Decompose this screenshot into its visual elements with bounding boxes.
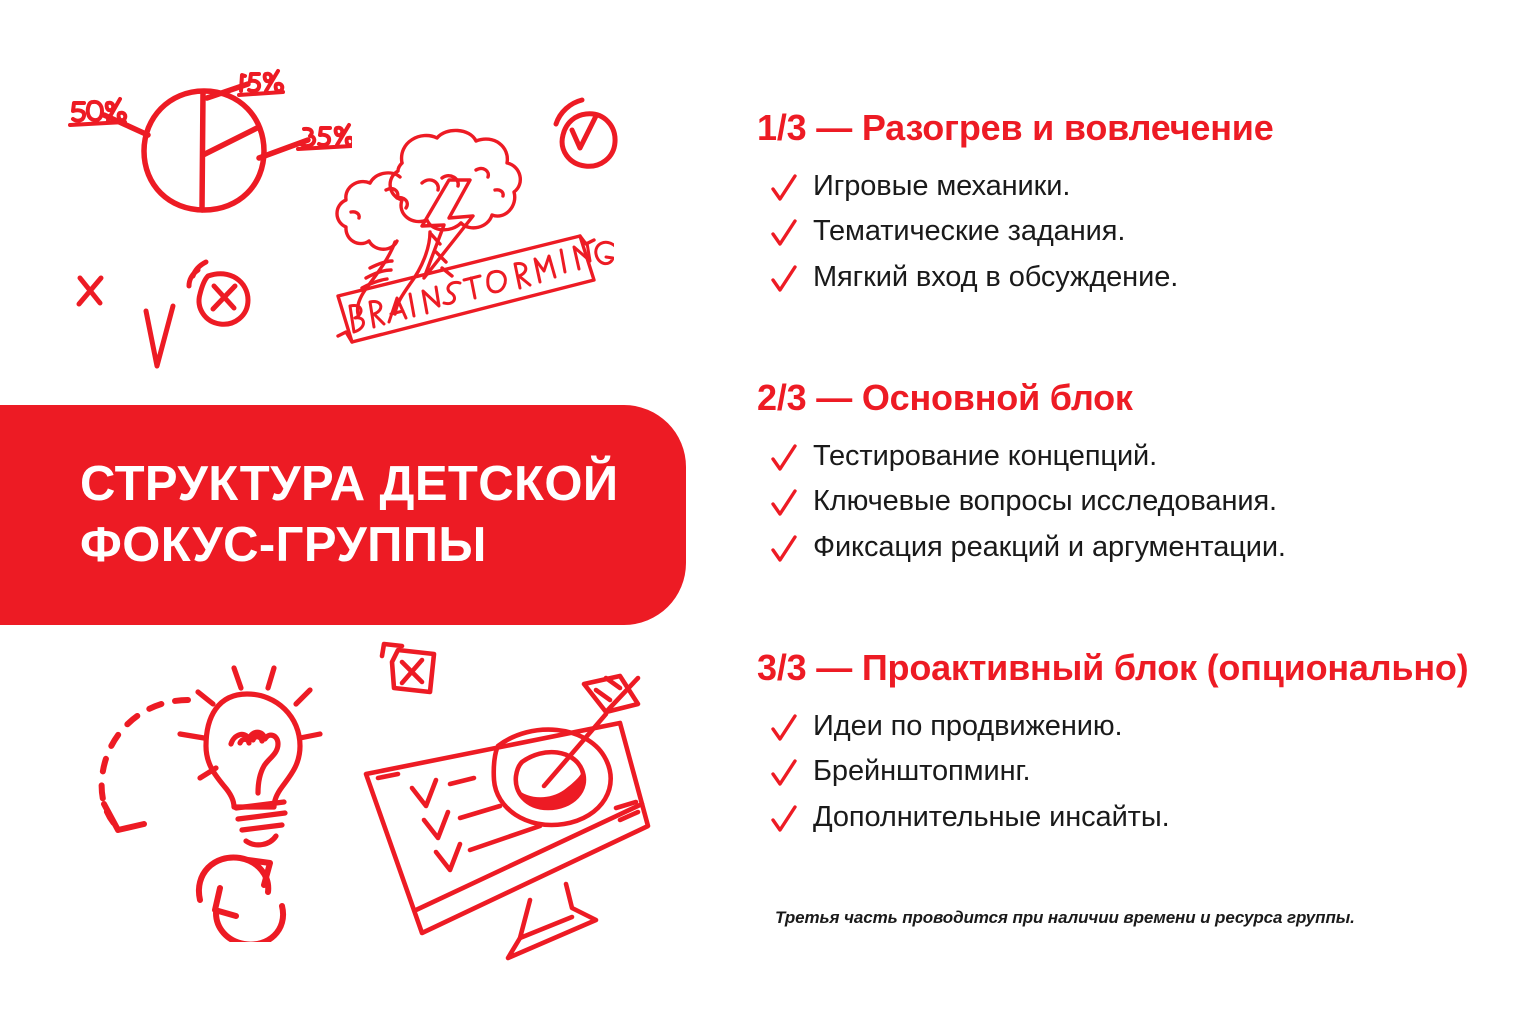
list-item-label: Идеи по продвижению. [813, 709, 1122, 744]
check-icon [771, 804, 797, 834]
right-content-column: 1/3 — Разогрев и вовлечение Игровые меха… [757, 0, 1497, 1028]
list-item-label: Тематические задания. [813, 214, 1125, 249]
section-heading: 3/3 — Проактивный блок (опционально) [757, 645, 1477, 691]
check-icon [771, 534, 797, 564]
list-item: Игровые механики. [757, 169, 1477, 204]
list-item: Брейнштопминг. [757, 754, 1477, 789]
section-proactive-block: 3/3 — Проактивный блок (опционально) Иде… [757, 645, 1477, 845]
check-icon [771, 713, 797, 743]
list-item: Мягкий вход в обсуждение. [757, 260, 1477, 295]
list-item: Ключевые вопросы исследования. [757, 484, 1477, 519]
list-item: Тематические задания. [757, 214, 1477, 249]
check-icon [771, 173, 797, 203]
check-icon [771, 264, 797, 294]
check-icon [771, 758, 797, 788]
section-main-block: 2/3 — Основной блок Тестирование концепц… [757, 375, 1477, 575]
check-icon [771, 218, 797, 248]
poster-canvas: СТРУКТУРА ДЕТСКОЙ ФОКУС-ГРУППЫ 1/3 — Раз… [0, 0, 1536, 1028]
lightbulb-icon [88, 638, 352, 942]
check-icon [771, 443, 797, 473]
list-item-label: Брейнштопминг. [813, 754, 1030, 789]
scribble-marks-icon [58, 248, 322, 372]
check-icon [771, 488, 797, 518]
section-warmup: 1/3 — Разогрев и вовлечение Игровые меха… [757, 105, 1477, 305]
page-title-line-2: ФОКУС-ГРУППЫ [80, 515, 646, 576]
list-item-label: Фиксация реакций и аргументации. [813, 530, 1286, 565]
list-item-label: Дополнительные инсайты. [813, 800, 1170, 835]
list-item: Дополнительные инсайты. [757, 800, 1477, 835]
page-title-line-1: СТРУКТУРА ДЕТСКОЙ [80, 454, 646, 515]
list-item-label: Игровые механики. [813, 169, 1070, 204]
circled-check-icon [538, 88, 650, 200]
list-item-label: Тестирование концепций. [813, 439, 1157, 474]
title-block: СТРУКТУРА ДЕТСКОЙ ФОКУС-ГРУППЫ [0, 405, 686, 625]
bullet-list: Игровые механики. Тематические задания. … [757, 169, 1477, 295]
list-item: Идеи по продвижению. [757, 709, 1477, 744]
footnote: Третья часть проводится при наличии врем… [775, 908, 1495, 928]
pie-chart-icon [52, 58, 352, 258]
list-item-label: Ключевые вопросы исследования. [813, 484, 1277, 519]
bullet-list: Тестирование концепций. Ключевые вопросы… [757, 439, 1477, 565]
bullet-list: Идеи по продвижению. Брейнштопминг. Допо… [757, 709, 1477, 835]
list-item-label: Мягкий вход в обсуждение. [813, 260, 1178, 295]
section-heading: 2/3 — Основной блок [757, 375, 1477, 421]
list-item: Фиксация реакций и аргументации. [757, 530, 1477, 565]
list-item: Тестирование концепций. [757, 439, 1477, 474]
section-heading: 1/3 — Разогрев и вовлечение [757, 105, 1477, 151]
monitor-target-icon [358, 638, 652, 962]
